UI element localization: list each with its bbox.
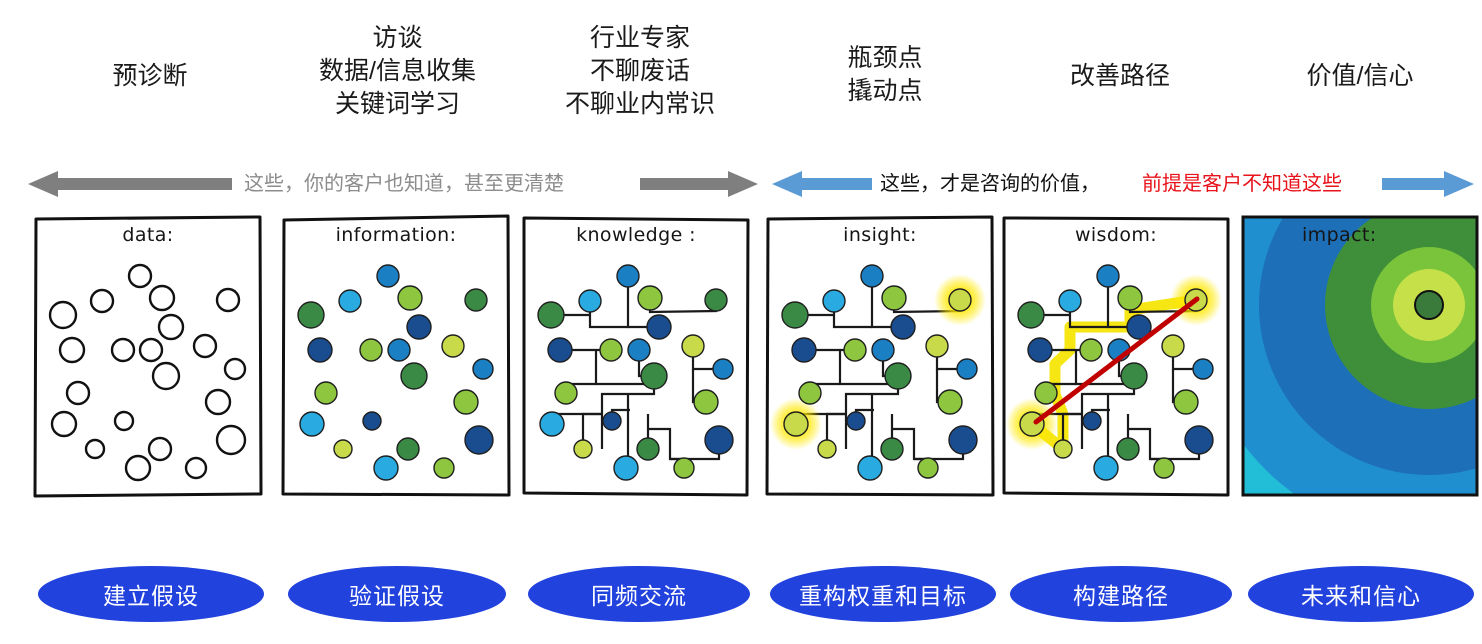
band-text-left: 这些，你的客户也知道，甚至更清楚 [244,174,564,194]
pill-same-frequency[interactable]: 同频交流 [528,566,750,622]
blue-left-arrow-icon [772,171,872,197]
header-bottleneck: 瓶颈点 撬动点 [800,42,970,108]
panel-caption-insight: insight: [764,224,996,246]
panels-row: data: information: [0,214,1482,504]
gray-left-arrow-icon [28,171,232,197]
panel-knowledge-graphic [520,214,752,499]
header-row: 预诊断 访谈 数据/信息收集 关键词学习 行业专家 不聊废话 不聊业内常识 瓶颈… [0,0,1482,150]
panel-insight[interactable]: insight: [764,214,996,499]
panel-information[interactable]: information: [280,214,512,499]
band-text-right-black: 这些，才是咨询的价值， [880,174,1100,194]
panel-caption-wisdom: wisdom: [1000,224,1232,246]
panel-impact[interactable]: impact: [1240,214,1472,499]
panel-impact-graphic [1240,214,1480,499]
pill-future-confidence[interactable]: 未来和信心 [1248,566,1474,622]
header-improve-path: 改善路径 [1030,60,1210,93]
panel-data[interactable]: data: [32,214,264,499]
panel-data-graphic [32,214,264,499]
panel-insight-graphic [764,214,996,499]
panel-caption-knowledge: knowledge : [520,224,752,246]
blue-right-arrow-icon [1382,171,1474,197]
band-text-right-red: 前提是客户不知道这些 [1142,174,1342,194]
gray-right-arrow-icon [640,171,758,197]
header-interview: 访谈 数据/信息收集 关键词学习 [300,22,495,121]
arrow-band: 这些，你的客户也知道，甚至更清楚 这些，才是咨询的价值， 前提是客户不知道这些 [0,160,1482,208]
panel-knowledge[interactable]: knowledge : [520,214,752,499]
panel-wisdom-graphic [1000,214,1232,499]
pills-row: 建立假设 验证假设 同频交流 重构权重和目标 构建路径 未来和信心 [0,566,1482,636]
panel-caption-information: information: [280,224,512,246]
pill-verify-hypothesis[interactable]: 验证假设 [288,566,506,622]
header-pre-diagnosis: 预诊断 [60,60,240,93]
header-industry-expert: 行业专家 不聊废话 不聊业内常识 [540,22,740,121]
panel-caption-data: data: [32,224,264,246]
impact-rings [1240,214,1480,499]
panel-information-graphic [280,214,512,499]
header-value-confidence: 价值/信心 [1270,60,1450,93]
pill-build-path[interactable]: 构建路径 [1010,566,1232,622]
panel-wisdom[interactable]: wisdom: [1000,214,1232,499]
pill-build-hypothesis[interactable]: 建立假设 [38,566,264,622]
pill-reweight-goals[interactable]: 重构权重和目标 [770,566,996,622]
panel-caption-impact: impact: [1240,224,1482,246]
